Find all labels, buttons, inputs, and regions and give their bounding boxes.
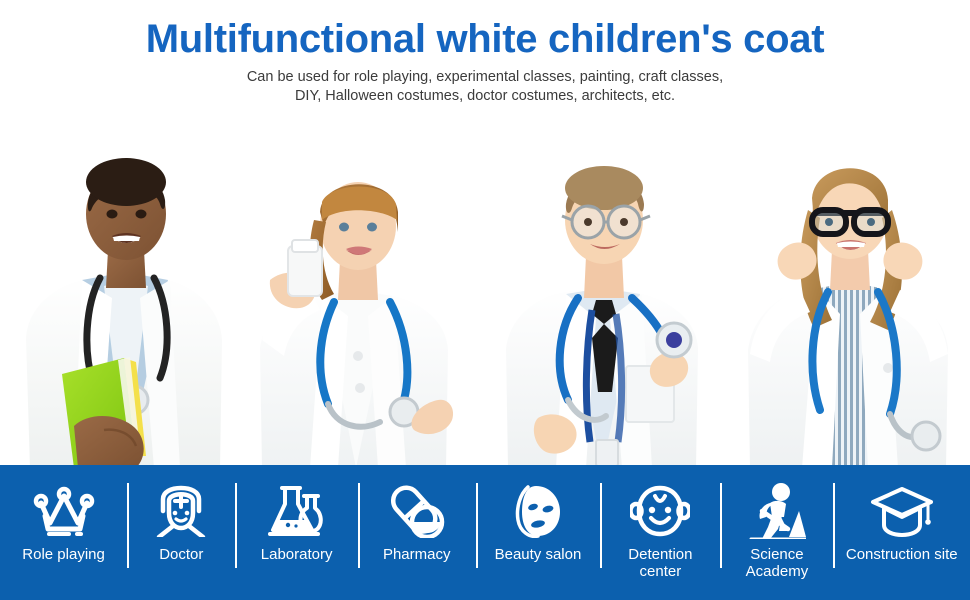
page-subtitle: Can be used for role playing, experiment… [155,68,815,106]
feature-label: Role playing [22,546,105,563]
feature-item-doctor[interactable]: Doctor [127,465,235,600]
photo-girl-with-bottle [248,150,464,468]
feature-label: Detention center [628,546,692,580]
feature-label: Laboratory [261,546,333,563]
feature-label: Science Academy [746,546,809,580]
feature-item-detention-center[interactable]: Detention center [600,465,720,600]
feature-label: Doctor [159,546,203,563]
promo-banner-page: Multifunctional white children's coat Ca… [0,0,970,600]
feature-item-science-academy[interactable]: Science Academy [720,465,833,600]
feature-item-beauty-salon[interactable]: Beauty salon [476,465,601,600]
feature-item-pharmacy[interactable]: Pharmacy [358,465,476,600]
page-title: Multifunctional white children's coat [0,0,970,62]
pills-icon [389,480,445,542]
crown-icon [33,480,95,542]
feature-label: Construction site [846,546,958,563]
photo-boy-with-glasses [492,142,714,468]
photo-girl-with-glasses [736,138,964,468]
feature-item-construction-site[interactable]: Construction site [833,465,970,600]
feature-label: Beauty salon [495,546,582,563]
photo-boy-with-books [8,138,244,468]
nurse-face-icon [153,480,209,542]
flask-icon [268,480,326,542]
subtitle-line-1: Can be used for role playing, experiment… [155,68,815,87]
product-photo-strip [0,120,970,468]
feature-label: Pharmacy [383,546,451,563]
construction-worker-icon [748,480,806,542]
feature-banner: Role playing Doctor [0,465,970,600]
subtitle-line-2: DIY, Halloween costumes, doctor costumes… [155,87,815,106]
face-mask-icon [512,480,564,542]
header: Multifunctional white children's coat Ca… [0,0,970,118]
feature-item-laboratory[interactable]: Laboratory [235,465,357,600]
graduation-cap-icon [870,480,934,542]
baby-face-icon [630,480,690,542]
feature-item-role-playing[interactable]: Role playing [0,465,127,600]
